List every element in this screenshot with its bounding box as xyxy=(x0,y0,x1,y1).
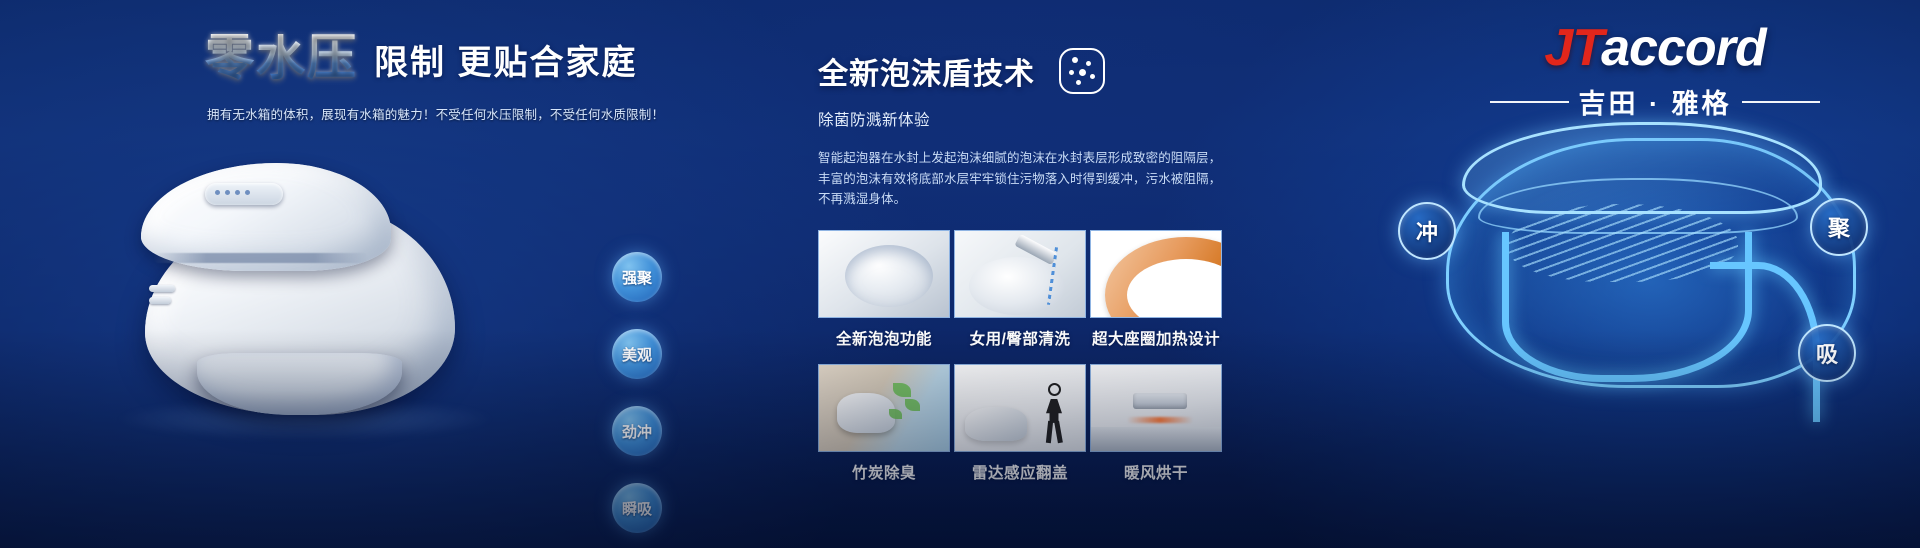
feature-cell-radar-lid[interactable]: 雷达感应翻盖 xyxy=(954,364,1086,498)
toilet-xray-cutaway: 冲 聚 吸 xyxy=(1410,112,1890,442)
feature-cell-warm-dry[interactable]: 暖风烘干 xyxy=(1090,364,1222,498)
paragraph-line-1: 智能起泡器在水封上发起泡沫细腻的泡沫在水封表层形成致密的阻隔层， xyxy=(818,148,1378,169)
feature-caption-deodorize: 竹炭除臭 xyxy=(818,461,950,483)
center-paragraph: 智能起泡器在水封上发起泡沫细腻的泡沫在水封表层形成致密的阻隔层， 丰富的泡沫有效… xyxy=(818,148,1378,210)
ring-badge-ju[interactable]: 聚 xyxy=(1810,198,1868,256)
ring-badge-chong[interactable]: 冲 xyxy=(1398,202,1456,260)
feature-badge-column: 强聚 美观 劲冲 瞬吸 xyxy=(612,252,662,548)
feature-grid: 全新泡泡功能 女用/臀部清洗 超大座圈加热设计 xyxy=(818,230,1378,498)
radar-auto-lid-thumb xyxy=(954,364,1086,452)
feature-caption-heated-seat: 超大座圈加热设计 xyxy=(1090,327,1222,349)
feature-cell-heated-seat[interactable]: 超大座圈加热设计 xyxy=(1090,230,1222,364)
logo-rule-left xyxy=(1490,101,1569,103)
badge-qiangju[interactable]: 强聚 xyxy=(612,252,662,302)
center-subtitle: 除菌防溅新体验 xyxy=(818,108,1378,130)
feature-cell-deodorize[interactable]: 竹炭除臭 xyxy=(818,364,950,498)
paragraph-line-3: 不再溅湿身体。 xyxy=(818,189,1378,210)
logo-rule-right xyxy=(1742,101,1821,103)
feature-caption-warm-dry: 暖风烘干 xyxy=(1090,461,1222,483)
heated-seat-ring-thumb xyxy=(1090,230,1222,318)
hero-headline-sub: 限制 更贴合家庭 xyxy=(374,46,637,83)
feature-caption-wash: 女用/臀部清洗 xyxy=(954,327,1086,349)
hero-headline-main: 零水压 xyxy=(205,34,358,83)
brand-logo[interactable]: JTaccord 吉田 · 雅格 xyxy=(1490,22,1820,121)
toilet-side-button-icon xyxy=(149,285,175,292)
badge-meiguan[interactable]: 美观 xyxy=(612,329,662,379)
brand-logo-accord: accord xyxy=(1601,19,1766,77)
feature-cell-wash[interactable]: 女用/臀部清洗 xyxy=(954,230,1086,364)
left-panel: 零水压 限制 更贴合家庭 拥有无水箱的体积，展现有水箱的魅力！不受任何水压限制，… xyxy=(0,0,660,548)
right-panel: JTaccord 吉田 · 雅格 冲 聚 吸 xyxy=(1380,0,1920,548)
foam-shield-heading: 全新泡沫盾技术 xyxy=(818,48,1378,94)
toilet-side-button-secondary-icon xyxy=(149,297,171,304)
ring-badge-xi[interactable]: 吸 xyxy=(1798,324,1856,382)
center-panel: 全新泡沫盾技术 除菌防溅新体验 智能起泡器在水封上发起泡沫细腻的泡沫在水封表层形… xyxy=(818,0,1378,548)
smart-toilet-illustration xyxy=(105,135,505,455)
hero-heading: 零水压 限制 更贴合家庭 xyxy=(205,34,637,83)
feature-caption-foam: 全新泡泡功能 xyxy=(818,327,950,349)
toilet-seam-line xyxy=(153,253,368,263)
hero-description: 拥有无水箱的体积，展现有水箱的魅力！不受任何水压限制，不受任何水质限制！ xyxy=(207,104,627,123)
badge-jingchong[interactable]: 劲冲 xyxy=(612,406,662,456)
toilet-panel-dots-icon xyxy=(215,190,250,195)
bowl-foam-thumb xyxy=(818,230,950,318)
feature-caption-radar-lid: 雷达感应翻盖 xyxy=(954,461,1086,483)
foam-shield-icon xyxy=(1059,48,1105,94)
warm-air-dry-thumb xyxy=(1090,364,1222,452)
badge-shunxi[interactable]: 瞬吸 xyxy=(612,483,662,533)
brand-logo-latin: JTaccord xyxy=(1490,22,1820,74)
nozzle-spray-thumb xyxy=(954,230,1086,318)
promo-banner: 零水压 限制 更贴合家庭 拥有无水箱的体积，展现有水箱的魅力！不受任何水压限制，… xyxy=(0,0,1920,548)
paragraph-line-2: 丰富的泡沫有效将底部水层牢牢锁住污物落入时得到缓冲，污水被阻隔， xyxy=(818,169,1378,190)
center-title: 全新泡沫盾技术 xyxy=(818,49,1035,93)
brand-logo-jt: JT xyxy=(1544,19,1601,77)
feature-cell-foam[interactable]: 全新泡泡功能 xyxy=(818,230,950,364)
bamboo-charcoal-thumb xyxy=(818,364,950,452)
